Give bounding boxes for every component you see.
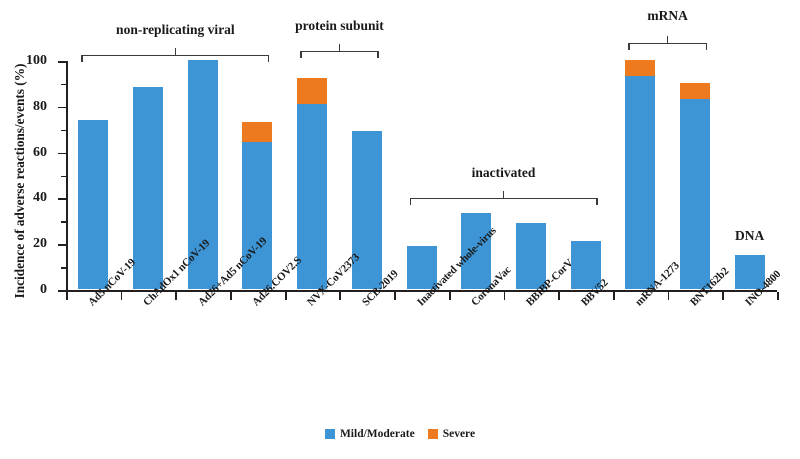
y-tick-minor: [61, 130, 66, 132]
bar-segment-mild-moderate: [625, 76, 655, 289]
x-tick: [449, 292, 451, 300]
bar: [516, 223, 546, 289]
bar-segment-severe: [242, 122, 272, 143]
bar: [133, 87, 163, 289]
group-bracket: [81, 49, 269, 63]
group-label: protein subunit: [295, 18, 384, 34]
x-tick: [285, 292, 287, 300]
x-tick: [175, 292, 177, 300]
bar-segment-mild-moderate: [242, 142, 272, 289]
x-tick: [668, 292, 670, 300]
chart-legend: Mild/ModerateSevere: [0, 428, 800, 440]
x-tick: [722, 292, 724, 300]
y-tick-major: [58, 153, 66, 155]
bar-segment-mild-moderate: [78, 120, 108, 289]
bar: [625, 60, 655, 289]
bracket-lend: [628, 43, 629, 50]
x-tick: [66, 292, 68, 300]
x-tick: [777, 292, 779, 300]
legend-item[interactable]: Severe: [428, 428, 475, 440]
y-tick-label: 80: [33, 99, 47, 115]
y-tick-major: [58, 244, 66, 246]
bar-segment-mild-moderate: [680, 99, 710, 289]
y-tick-label: 60: [33, 145, 47, 161]
x-tick: [394, 292, 396, 300]
y-tick-major: [58, 198, 66, 200]
bracket-lend: [410, 198, 411, 205]
bracket-lend: [300, 51, 301, 58]
x-tick: [230, 292, 232, 300]
y-tick-minor: [61, 221, 66, 223]
legend-swatch: [428, 429, 438, 439]
bracket-rend: [706, 43, 707, 50]
bar-segment-mild-moderate: [133, 87, 163, 289]
group-label: non-replicating viral: [116, 22, 235, 38]
x-tick: [339, 292, 341, 300]
bar-segment-severe: [625, 60, 655, 76]
bracket-rend: [377, 51, 378, 58]
x-tick: [121, 292, 123, 300]
legend-label: Mild/Moderate: [340, 428, 415, 440]
y-axis-title: Incidence of adverse reactions/events (%…: [12, 56, 30, 306]
bracket-stem: [667, 36, 668, 44]
y-tick-major: [58, 290, 66, 292]
legend-swatch: [325, 429, 335, 439]
y-tick-minor: [61, 176, 66, 178]
bar: [297, 78, 327, 289]
x-tick: [613, 292, 615, 300]
group-label: mRNA: [647, 8, 688, 24]
bracket-rend: [268, 55, 269, 62]
y-tick-label: 100: [26, 53, 47, 69]
bracket-lend: [81, 55, 82, 62]
x-tick: [558, 292, 560, 300]
y-axis-line: [66, 61, 68, 292]
bracket-stem: [339, 44, 340, 52]
bracket-rend: [596, 198, 597, 205]
bar: [78, 120, 108, 289]
bracket-stem: [175, 48, 176, 56]
y-tick-label: 0: [40, 282, 47, 298]
legend-item[interactable]: Mild/Moderate: [325, 428, 415, 440]
y-tick-minor: [61, 267, 66, 269]
group-bracket: [300, 45, 379, 59]
bar-segment-severe: [680, 83, 710, 99]
legend-label: Severe: [443, 428, 475, 440]
group-bracket: [628, 37, 707, 51]
y-tick-label: 20: [33, 236, 47, 252]
bracket-stem: [503, 191, 504, 199]
x-tick: [504, 292, 506, 300]
chart-figure: Incidence of adverse reactions/events (%…: [0, 0, 800, 459]
group-bracket: [410, 192, 598, 206]
group-label: DNA: [735, 228, 764, 244]
y-tick-minor: [61, 84, 66, 86]
y-tick-label: 40: [33, 190, 47, 206]
group-label: inactivated: [472, 165, 536, 181]
bar-segment-mild-moderate: [516, 223, 546, 289]
bar: [680, 83, 710, 289]
y-tick-major: [58, 61, 66, 63]
y-tick-major: [58, 107, 66, 109]
bar-segment-severe: [297, 78, 327, 103]
plot-area: 020406080100: [66, 61, 777, 291]
